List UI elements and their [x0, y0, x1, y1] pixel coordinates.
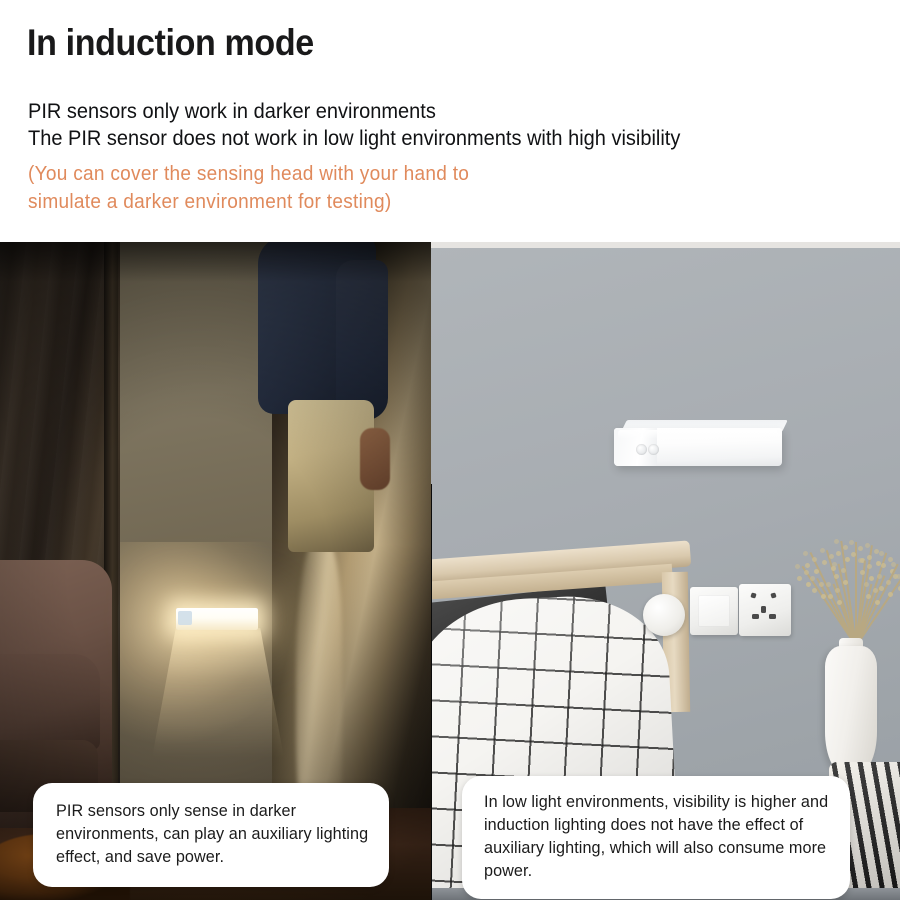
socket-hole-icon — [752, 614, 759, 619]
socket-hole-icon — [769, 614, 776, 619]
flower-bud — [829, 554, 834, 559]
left-caption-text: PIR sensors only sense in darker environ… — [56, 800, 369, 869]
flower-bud — [834, 539, 839, 544]
led-gloss-highlight — [618, 430, 778, 439]
flower-bud — [836, 551, 841, 556]
flower-bud — [805, 563, 810, 568]
flower-bud — [886, 580, 891, 585]
flower-bud — [806, 582, 811, 587]
subtitle-line-1: PIR sensors only work in darker environm… — [28, 99, 436, 124]
socket-hole-icon — [770, 592, 776, 598]
page-title: In induction mode — [27, 22, 314, 63]
right-caption-bubble: In low light environments, visibility is… — [462, 776, 850, 899]
flower-bud — [803, 551, 808, 556]
socket-hole-icon — [761, 606, 766, 613]
white-ceramic-vase — [825, 646, 877, 776]
flower-bud — [867, 555, 872, 560]
wall-light-switch — [690, 587, 738, 635]
flower-bud — [834, 574, 839, 579]
flower-bud — [858, 546, 863, 551]
flower-bud — [810, 576, 815, 581]
flower-bud — [851, 552, 856, 557]
flower-bud — [891, 562, 896, 567]
flower-bud — [832, 562, 837, 567]
flower-bud — [819, 582, 824, 587]
flower-bud — [875, 600, 880, 605]
flower-bud — [812, 588, 817, 593]
header-text-block: In induction mode PIR sensors only work … — [0, 0, 900, 242]
pir-sensor-dome-icon — [636, 444, 647, 455]
flower-bud — [867, 564, 872, 569]
product-infographic-page: In induction mode PIR sensors only work … — [0, 0, 900, 900]
note-line-2: simulate a darker environment for testin… — [28, 190, 392, 214]
flower-bud — [831, 566, 836, 571]
flower-bud — [826, 582, 831, 587]
pillow-pompom — [643, 594, 685, 636]
socket-hole-icon — [750, 592, 756, 598]
subtitle-line-2: The PIR sensor does not work in low ligh… — [28, 126, 680, 151]
flower-bud — [896, 574, 900, 579]
right-caption-text: In low light environments, visibility is… — [484, 791, 830, 883]
flower-bud — [843, 580, 848, 585]
flower-bud — [845, 557, 850, 562]
flower-bud — [865, 543, 870, 548]
note-line-1: (You can cover the sensing head with you… — [28, 162, 469, 186]
flower-bud — [860, 570, 865, 575]
led-bar-lamp-unlit — [614, 420, 782, 466]
flower-bud — [820, 548, 825, 553]
light-switch-rocker — [698, 595, 730, 627]
pir-sensor-dome-secondary-icon — [648, 444, 659, 455]
flower-bud — [843, 545, 848, 550]
left-caption-bubble: PIR sensors only sense in darker environ… — [33, 783, 389, 887]
right-ceiling-edge — [431, 242, 900, 248]
flower-bud — [822, 560, 827, 565]
wall-power-socket — [739, 584, 791, 636]
dried-flowers — [807, 538, 900, 646]
flower-bud — [869, 576, 874, 581]
flower-bud — [849, 540, 854, 545]
photo-divider — [431, 484, 432, 900]
flower-bud — [874, 549, 879, 554]
flower-bud — [881, 563, 886, 568]
flower-bud — [812, 557, 817, 562]
flower-bud — [841, 568, 846, 573]
